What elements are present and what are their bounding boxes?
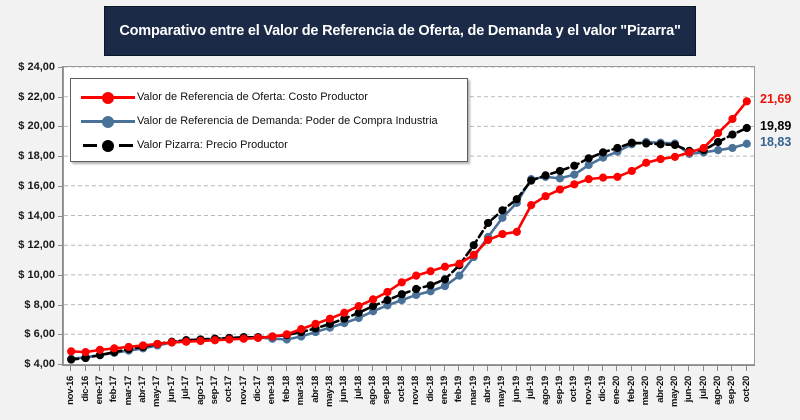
- x-axis-tick-mark: [458, 366, 459, 371]
- data-point: [685, 148, 693, 156]
- x-axis-tick-label: abr-18: [310, 376, 321, 403]
- x-axis-tick-mark: [329, 366, 330, 371]
- data-point: [585, 175, 593, 183]
- x-axis-tick-label: jun-19: [511, 376, 522, 402]
- x-axis-tick-mark: [545, 366, 546, 371]
- data-point: [628, 167, 636, 175]
- x-axis-tick-label: jul-18: [353, 376, 364, 399]
- x-axis-tick-label: jul-19: [525, 376, 536, 399]
- series-end-value-label: 19,89: [760, 119, 791, 133]
- x-axis-tick-label: mar-18: [295, 376, 306, 405]
- series-end-value-label: 18,83: [760, 135, 791, 149]
- data-point: [326, 315, 334, 323]
- x-axis-tick-mark: [616, 366, 617, 371]
- x-axis-tick-mark: [300, 366, 301, 371]
- x-axis-tick-mark: [214, 366, 215, 371]
- series-line: [71, 142, 747, 359]
- data-point: [412, 272, 420, 280]
- x-axis-tick-label: oct-18: [396, 376, 407, 402]
- data-point: [470, 251, 478, 259]
- data-point: [570, 162, 578, 170]
- x-axis-tick-mark: [70, 366, 71, 371]
- legend-item-label: Valor de Referencia de Demanda: Poder de…: [137, 115, 438, 127]
- data-point: [556, 167, 564, 175]
- legend-item[interactable]: Valor Pizarra: Precio Productor: [79, 133, 459, 157]
- series-end-value-label: 21,69: [760, 92, 791, 106]
- x-axis-tick-mark: [688, 366, 689, 371]
- x-axis-tick-mark: [516, 366, 517, 371]
- data-point: [383, 296, 391, 304]
- x-axis-tick-mark: [185, 366, 186, 371]
- data-point: [613, 173, 621, 181]
- y-axis-tick-label: $ 16,00: [18, 180, 55, 192]
- x-axis-tick-mark: [271, 366, 272, 371]
- data-point: [570, 180, 578, 188]
- data-point: [125, 343, 133, 351]
- legend-marker-icon: [102, 116, 114, 128]
- x-axis-tick-label: nov-19: [583, 376, 594, 405]
- x-axis-tick-label: may-19: [496, 376, 507, 407]
- x-axis-tick-mark: [286, 366, 287, 371]
- x-axis-tick-mark: [559, 366, 560, 371]
- x-axis-tick-mark: [228, 366, 229, 371]
- x-axis-tick-mark: [171, 366, 172, 371]
- x-axis-tick-label: oct-20: [741, 376, 752, 402]
- x-axis-tick-label: dic-19: [597, 376, 608, 402]
- x-axis-tick-label: ago-17: [195, 376, 206, 405]
- data-point: [513, 228, 521, 236]
- data-point: [268, 332, 276, 340]
- x-axis-tick-label: ene-20: [611, 376, 622, 404]
- x-axis-tick-mark: [645, 366, 646, 371]
- data-point: [728, 144, 736, 152]
- y-axis-tick-label: $ 20,00: [18, 120, 55, 132]
- x-axis-tick-label: ago-19: [540, 376, 551, 405]
- data-point: [728, 130, 736, 138]
- x-axis-tick-label: abr-17: [137, 376, 148, 403]
- data-point: [556, 174, 564, 182]
- x-axis-tick-mark: [473, 366, 474, 371]
- x-axis-tick-mark: [588, 366, 589, 371]
- data-point: [743, 97, 751, 105]
- data-point: [642, 139, 650, 147]
- x-axis-tick-mark: [113, 366, 114, 371]
- data-point: [642, 159, 650, 167]
- data-point: [96, 346, 104, 354]
- x-axis-tick-mark: [703, 366, 704, 371]
- data-point: [426, 281, 434, 289]
- x-axis-tick-mark: [530, 366, 531, 371]
- data-point: [599, 148, 607, 156]
- legend-item-label: Valor de Referencia de Oferta: Costo Pro…: [137, 91, 368, 103]
- y-axis-tick-label: $ 14,00: [18, 210, 55, 222]
- y-axis-tick-label: $ 6,00: [24, 328, 55, 340]
- legend-dash-right: [119, 144, 133, 147]
- x-axis-tick-label: ago-18: [367, 376, 378, 405]
- x-axis-tick-label: jun-18: [338, 376, 349, 402]
- x-axis-tick-label: feb-20: [626, 376, 637, 402]
- data-point: [498, 206, 506, 214]
- x-axis-tick-mark: [142, 366, 143, 371]
- y-axis-tick-label: $ 4,00: [24, 358, 55, 370]
- x-axis-tick-label: jun-20: [683, 376, 694, 402]
- x-axis-tick-label: nov-18: [410, 376, 421, 405]
- x-axis-tick-mark: [128, 366, 129, 371]
- data-point: [412, 285, 420, 293]
- x-axis-tick-mark: [602, 366, 603, 371]
- data-point: [67, 347, 75, 355]
- data-point: [743, 124, 751, 132]
- x-axis-tick-mark: [444, 366, 445, 371]
- x-axis-tick-mark: [430, 366, 431, 371]
- legend-dash-left: [83, 144, 97, 147]
- x-axis-tick-label: ene-19: [439, 376, 450, 404]
- legend-marker-icon: [102, 92, 114, 104]
- x-axis-tick-label: dic-16: [80, 376, 91, 402]
- data-point: [441, 275, 449, 283]
- x-axis-tick-mark: [746, 366, 747, 371]
- data-point: [484, 219, 492, 227]
- data-point: [671, 153, 679, 161]
- x-axis-tick-label: may-18: [324, 376, 335, 407]
- x-axis-tick-label: oct-19: [568, 376, 579, 402]
- x-axis-tick-label: abr-19: [482, 376, 493, 403]
- data-point: [81, 348, 89, 356]
- data-point: [585, 154, 593, 162]
- x-axis-tick-label: jun-17: [166, 376, 177, 402]
- x-axis-tick-label: ago-20: [712, 376, 723, 405]
- x-axis-tick-label: mar-19: [468, 376, 479, 405]
- legend-item[interactable]: Valor de Referencia de Oferta: Costo Pro…: [79, 85, 459, 109]
- data-point: [340, 309, 348, 317]
- right-label-gutter: [755, 66, 800, 366]
- x-axis-tick-mark: [731, 366, 732, 371]
- legend-swatch: [79, 90, 137, 104]
- x-axis: nov-16dic-16ene-17feb-17mar-17abr-17may-…: [63, 366, 755, 420]
- x-axis-tick-mark: [501, 366, 502, 371]
- x-axis-tick-label: dic-17: [252, 376, 263, 402]
- x-axis-tick-mark: [573, 366, 574, 371]
- x-axis-tick-mark: [386, 366, 387, 371]
- data-point: [297, 325, 305, 333]
- x-axis-tick-mark: [372, 366, 373, 371]
- data-point: [153, 340, 161, 348]
- data-point: [196, 337, 204, 345]
- y-axis-tick-label: $ 22,00: [18, 91, 55, 103]
- x-axis-tick-label: nov-16: [65, 376, 76, 405]
- x-axis-tick-mark: [631, 366, 632, 371]
- data-point: [455, 260, 463, 268]
- data-point: [398, 290, 406, 298]
- data-point: [714, 138, 722, 146]
- x-axis-tick-label: dic-18: [425, 376, 436, 402]
- y-axis-tick-label: $ 8,00: [24, 299, 55, 311]
- data-point: [541, 171, 549, 179]
- data-point: [743, 140, 751, 148]
- data-point: [570, 171, 578, 179]
- x-axis-tick-label: jul-20: [698, 376, 709, 399]
- data-point: [455, 272, 463, 280]
- x-axis-tick-label: feb-19: [453, 376, 464, 402]
- x-axis-line: [63, 365, 756, 366]
- data-point: [728, 115, 736, 123]
- x-axis-tick-label: mar-20: [640, 376, 651, 405]
- x-axis-tick-mark: [717, 366, 718, 371]
- x-axis-tick-label: ene-18: [266, 376, 277, 404]
- x-axis-tick-label: jul-17: [180, 376, 191, 399]
- x-axis-tick-mark: [99, 366, 100, 371]
- data-point: [498, 230, 506, 238]
- data-point: [182, 338, 190, 346]
- y-axis-tick-label: $ 10,00: [18, 269, 55, 281]
- x-axis-tick-label: abr-20: [655, 376, 666, 403]
- x-axis-tick-mark: [156, 366, 157, 371]
- data-point: [67, 355, 75, 363]
- x-axis-tick-mark: [401, 366, 402, 371]
- data-point: [513, 195, 521, 203]
- data-point: [484, 236, 492, 244]
- legend-item-label: Valor Pizarra: Precio Productor: [137, 139, 288, 151]
- data-point: [225, 335, 233, 343]
- data-point: [714, 129, 722, 137]
- data-point: [254, 334, 262, 342]
- x-axis-tick-mark: [257, 366, 258, 371]
- data-point: [556, 185, 564, 193]
- x-axis-tick-label: sep-19: [554, 376, 565, 404]
- legend-item[interactable]: Valor de Referencia de Demanda: Poder de…: [79, 109, 459, 133]
- data-point: [498, 214, 506, 222]
- data-point: [541, 192, 549, 200]
- x-axis-tick-mark: [674, 366, 675, 371]
- data-point: [355, 302, 363, 310]
- x-axis-tick-mark: [415, 366, 416, 371]
- x-axis-tick-label: mar-17: [123, 376, 134, 405]
- y-axis: $ 24,00$ 22,00$ 20,00$ 18,00$ 16,00$ 14,…: [0, 66, 63, 365]
- chart-title-box: Comparativo entre el Valor de Referencia…: [104, 6, 696, 56]
- data-point: [110, 344, 118, 352]
- x-axis-tick-mark: [660, 366, 661, 371]
- x-axis-tick-label: feb-17: [108, 376, 119, 402]
- data-point: [283, 330, 291, 338]
- data-point: [714, 146, 722, 154]
- data-point: [168, 338, 176, 346]
- y-axis-tick-label: $ 12,00: [18, 239, 55, 251]
- legend-marker-icon: [102, 140, 114, 152]
- data-point: [311, 320, 319, 328]
- x-axis-tick-mark: [315, 366, 316, 371]
- x-axis-tick-label: sep-20: [726, 376, 737, 404]
- x-axis-tick-mark: [343, 366, 344, 371]
- legend-swatch: [79, 114, 137, 128]
- data-point: [398, 278, 406, 286]
- data-point: [613, 144, 621, 152]
- data-point: [426, 267, 434, 275]
- x-axis-tick-mark: [487, 366, 488, 371]
- data-point: [656, 155, 664, 163]
- data-point: [527, 177, 535, 185]
- data-point: [369, 295, 377, 303]
- x-axis-tick-mark: [358, 366, 359, 371]
- x-axis-tick-label: may-20: [669, 376, 680, 407]
- x-axis-tick-label: may-17: [151, 376, 162, 407]
- data-point: [700, 144, 708, 152]
- x-axis-tick-label: nov-17: [238, 376, 249, 405]
- chart-legend: Valor de Referencia de Oferta: Costo Pro…: [70, 78, 468, 162]
- data-point: [656, 140, 664, 148]
- data-point: [527, 201, 535, 209]
- x-axis-tick-label: ene-17: [94, 376, 105, 404]
- x-axis-tick-label: sep-18: [381, 376, 392, 404]
- x-axis-tick-label: sep-17: [209, 376, 220, 404]
- x-axis-tick-label: oct-17: [223, 376, 234, 402]
- data-point: [211, 336, 219, 344]
- x-axis-tick-mark: [85, 366, 86, 371]
- legend-swatch: [79, 138, 137, 152]
- x-axis-tick-mark: [200, 366, 201, 371]
- data-point: [383, 288, 391, 296]
- x-axis-tick-mark: [243, 366, 244, 371]
- y-axis-tick-label: $ 24,00: [18, 61, 55, 73]
- y-axis-tick-label: $ 18,00: [18, 150, 55, 162]
- data-point: [139, 341, 147, 349]
- chart-screenshot: Comparativo entre el Valor de Referencia…: [0, 0, 800, 420]
- data-point: [441, 263, 449, 271]
- data-point: [628, 139, 636, 147]
- data-point: [599, 174, 607, 182]
- page-title: Comparativo entre el Valor de Referencia…: [113, 22, 686, 40]
- data-point: [671, 141, 679, 149]
- x-axis-tick-label: feb-18: [281, 376, 292, 402]
- data-point: [470, 241, 478, 249]
- data-point: [240, 335, 248, 343]
